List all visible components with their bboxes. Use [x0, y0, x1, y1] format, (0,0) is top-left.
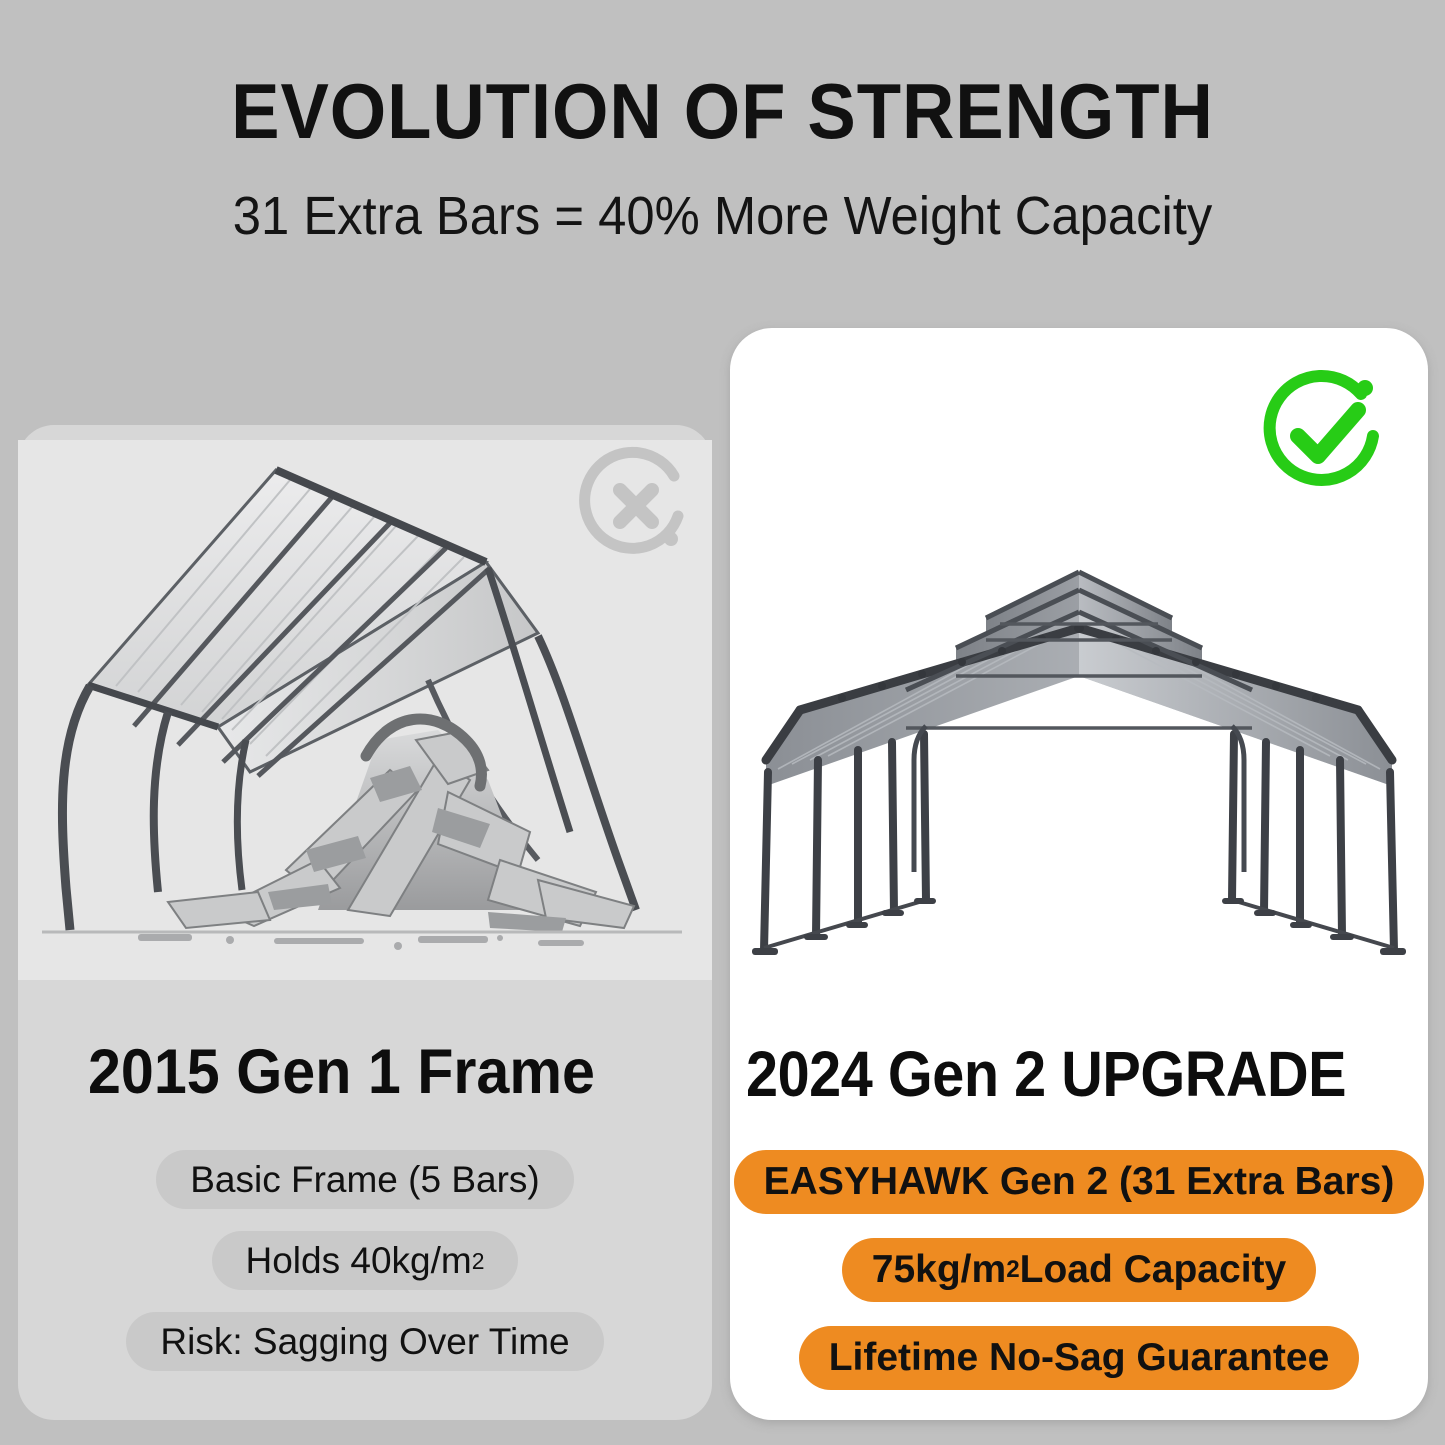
gen1-badge-3: Risk: Sagging Over Time	[126, 1312, 603, 1371]
gen2-title: 2024 Gen 2 UPGRADE	[746, 1038, 1346, 1110]
circle-x-icon	[572, 442, 702, 572]
gen1-badge-2: Holds 40kg/m2	[212, 1231, 519, 1290]
gen2-badge-list: EASYHAWK Gen 2 (31 Extra Bars) 75kg/m2 L…	[730, 1150, 1428, 1390]
infographic-root: EVOLUTION OF STRENGTH 31 Extra Bars = 40…	[0, 0, 1445, 1445]
gen1-badge-1: Basic Frame (5 Bars)	[156, 1150, 574, 1209]
gen1-title: 2015 Gen 1 Frame	[88, 1036, 595, 1108]
circle-check-icon	[1248, 358, 1400, 510]
gen2-badge-2: 75kg/m2 Load Capacity	[842, 1238, 1316, 1302]
page-subtitle: 31 Extra Bars = 40% More Weight Capacity	[43, 185, 1401, 247]
page-title: EVOLUTION OF STRENGTH	[51, 68, 1395, 154]
gen1-badge-list: Basic Frame (5 Bars) Holds 40kg/m2 Risk:…	[18, 1150, 712, 1371]
gen2-badge-1: EASYHAWK Gen 2 (31 Extra Bars)	[734, 1150, 1425, 1214]
gen2-badge-3: Lifetime No-Sag Guarantee	[799, 1326, 1360, 1390]
gen2-carport-image	[732, 520, 1426, 990]
